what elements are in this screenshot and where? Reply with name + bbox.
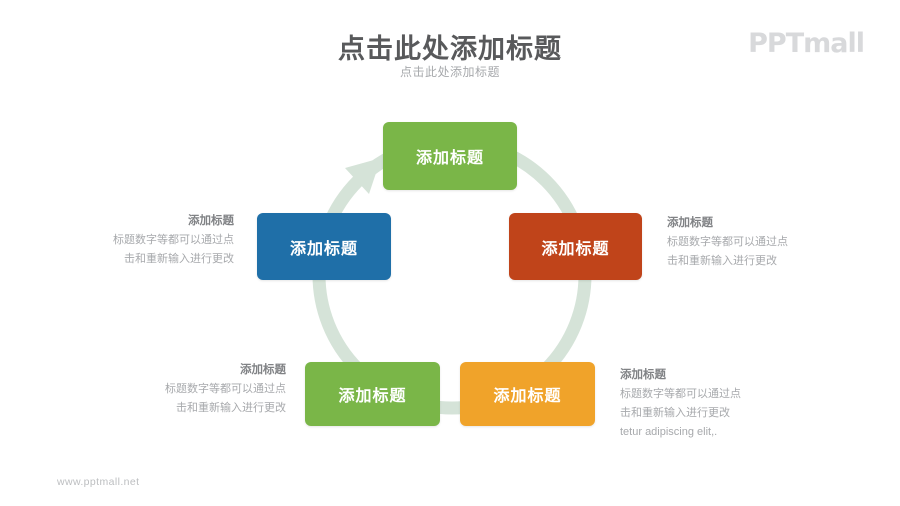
caption-right-lower-title: 添加标题: [620, 366, 810, 385]
caption-left-lower-line1: 标题数字等都可以通过点: [165, 383, 286, 395]
node-box-left-label: 添加标题: [290, 235, 358, 259]
node-box-bottom-left-label: 添加标题: [338, 382, 406, 406]
caption-right-upper-line2: 击和重新输入进行更改: [667, 255, 777, 267]
caption-right-upper-title: 添加标题: [667, 214, 843, 233]
caption-right-lower-line2: 击和重新输入进行更改: [620, 407, 730, 419]
logo-text-ppt: PPT: [748, 28, 803, 59]
node-box-top-label: 添加标题: [416, 144, 484, 168]
node-box-top[interactable]: 添加标题: [383, 122, 517, 190]
node-box-bottom-left[interactable]: 添加标题: [305, 362, 440, 426]
caption-right-lower-line3: tetur adipiscing elit,.: [620, 426, 717, 438]
caption-left-lower-line2: 击和重新输入进行更改: [176, 402, 286, 414]
caption-right-lower: 添加标题 标题数字等都可以通过点 击和重新输入进行更改 tetur adipis…: [620, 366, 810, 442]
node-box-left[interactable]: 添加标题: [257, 213, 391, 280]
caption-left-lower-title: 添加标题: [110, 361, 286, 380]
slide-canvas: 点击此处添加标题 点击此处添加标题 PPTmall 添加标题 添加标题 添加标题…: [0, 0, 900, 506]
caption-left-upper-title: 添加标题: [62, 212, 234, 231]
footer-url: www.pptmall.net: [57, 476, 139, 488]
node-box-right[interactable]: 添加标题: [509, 213, 642, 280]
caption-right-upper: 添加标题 标题数字等都可以通过点 击和重新输入进行更改: [667, 214, 843, 271]
logo-text-mall: mall: [803, 28, 864, 59]
node-box-right-label: 添加标题: [541, 235, 609, 259]
caption-right-upper-line1: 标题数字等都可以通过点: [667, 236, 788, 248]
page-subtitle: 点击此处添加标题: [0, 63, 900, 80]
node-box-bottom-right[interactable]: 添加标题: [460, 362, 595, 426]
caption-left-lower: 添加标题 标题数字等都可以通过点 击和重新输入进行更改: [110, 361, 286, 418]
node-box-bottom-right-label: 添加标题: [493, 382, 561, 406]
caption-left-upper-line2: 击和重新输入进行更改: [124, 253, 234, 265]
pptmall-logo: PPTmall: [748, 28, 864, 59]
caption-left-upper: 添加标题 标题数字等都可以通过点 击和重新输入进行更改: [62, 212, 234, 269]
caption-left-upper-line1: 标题数字等都可以通过点: [113, 234, 234, 246]
caption-right-lower-line1: 标题数字等都可以通过点: [620, 388, 741, 400]
